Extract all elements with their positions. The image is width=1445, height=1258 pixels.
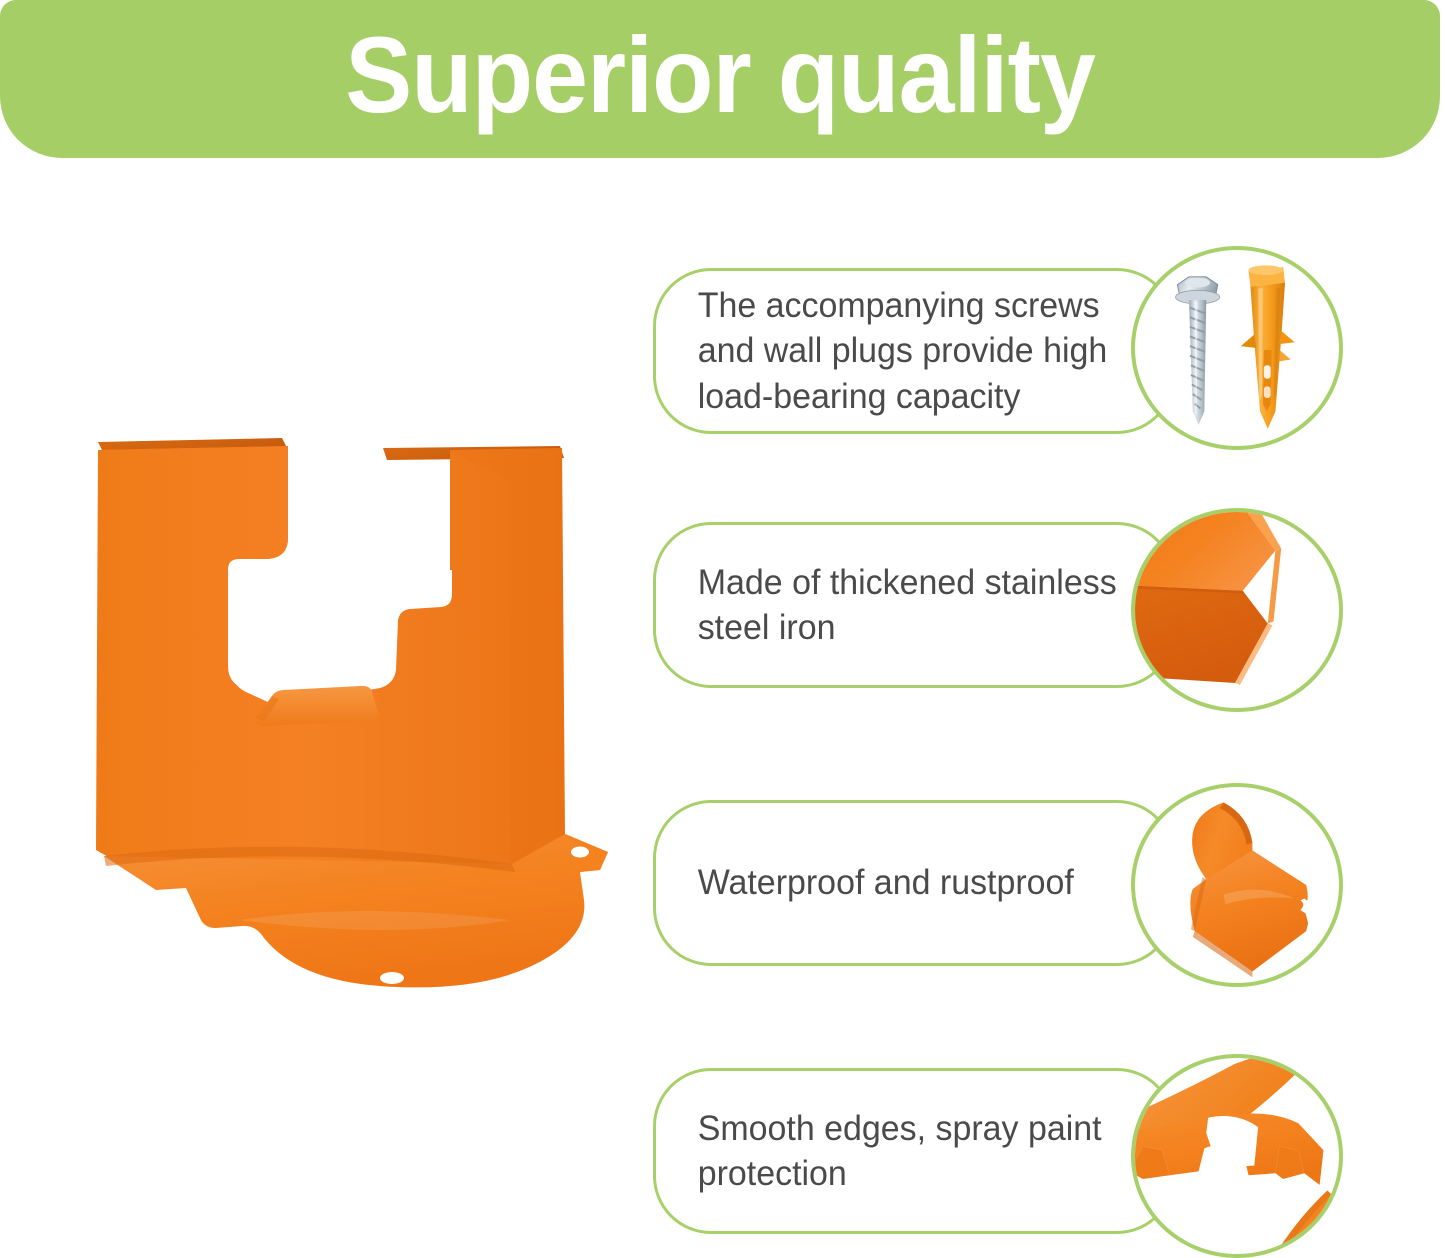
- feature-text-box: Waterproof and rustproof: [653, 800, 1175, 966]
- header-banner: Superior quality: [0, 0, 1440, 158]
- feature-label: Smooth edges, spray paint protection: [656, 1106, 1157, 1197]
- feature-label: Made of thickened stainless steel iron: [656, 560, 1157, 651]
- feature-image-circle: [1131, 1054, 1343, 1258]
- screw-and-wall-plug-icon: [1135, 250, 1339, 446]
- orange-wall-bracket-photo: [60, 420, 620, 1100]
- feature-text-box: Made of thickened stainless steel iron: [653, 522, 1175, 688]
- feature-image-circle: [1131, 246, 1343, 450]
- feature-text-box: Smooth edges, spray paint protection: [653, 1068, 1175, 1234]
- feature-text-box: The accompanying screws and wall plugs p…: [653, 268, 1175, 434]
- feature-label: The accompanying screws and wall plugs p…: [656, 283, 1157, 420]
- bracket-notched-edge-icon: [1135, 1058, 1339, 1254]
- page-title: Superior quality: [345, 21, 1095, 129]
- bracket-curved-edge-icon: [1135, 787, 1339, 983]
- feature-image-circle: [1131, 783, 1343, 987]
- hero-product-image: [60, 420, 620, 1100]
- bracket-corner-fold-icon: [1135, 512, 1339, 708]
- feature-image-circle: [1131, 508, 1343, 712]
- feature-label: Waterproof and rustproof: [656, 860, 1113, 906]
